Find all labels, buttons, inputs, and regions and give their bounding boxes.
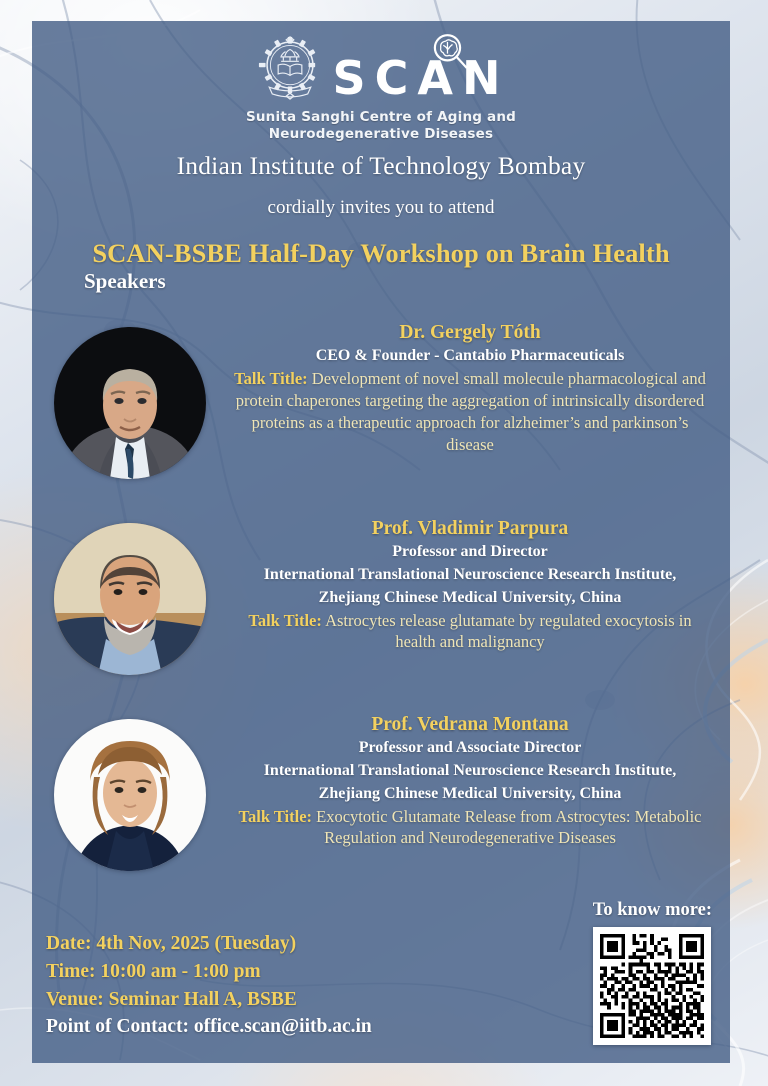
scan-logo-block: SCAN Sunita Sanghi Centre of Aging	[32, 29, 730, 143]
brain-magnifier-icon	[429, 31, 471, 73]
talk-title-text: Astrocytes release glutamate by regulate…	[325, 611, 692, 652]
speaker-role: Professor and Associate Director	[228, 737, 712, 760]
speaker-photo-vedrana-montana	[54, 719, 206, 871]
avatar	[54, 523, 206, 675]
content-panel: SCAN Sunita Sanghi Centre of Aging	[32, 21, 730, 1063]
speaker-name: Prof. Vladimir Parpura	[228, 517, 712, 541]
speaker-photo-cell	[32, 321, 228, 479]
speaker-row: Prof. Vedrana Montana Professor and Asso…	[32, 713, 730, 871]
speaker-info: Prof. Vedrana Montana Professor and Asso…	[228, 713, 730, 849]
speaker-name: Dr. Gergely Tóth	[228, 321, 712, 345]
talk-title-label: Talk Title:	[234, 369, 308, 388]
speaker-talk: Talk Title: Development of novel small m…	[228, 368, 712, 456]
qr-block: To know more:	[593, 900, 712, 1045]
speakers-section-label: Speakers	[84, 269, 166, 294]
qr-caption: To know more:	[593, 900, 712, 921]
speaker-name: Prof. Vedrana Montana	[228, 713, 712, 737]
event-time: Time: 10:00 am - 1:00 pm	[46, 958, 372, 986]
avatar	[54, 327, 206, 479]
speaker-photo-gergely-toth	[54, 327, 206, 479]
scan-wordmark: SCAN	[333, 31, 510, 115]
contact-email[interactable]: Point of Contact: office.scan@iitb.ac.in	[46, 1013, 372, 1041]
event-date: Date: 4th Nov, 2025 (Tuesday)	[46, 930, 372, 958]
speaker-role: CEO & Founder - Cantabio Pharmaceuticals	[228, 345, 712, 368]
talk-title-text: Exocytotic Glutamate Release from Astroc…	[316, 807, 701, 848]
page-title: SCAN-BSBE Half-Day Workshop on Brain Hea…	[32, 238, 730, 269]
speaker-photo-cell	[32, 713, 228, 871]
speaker-role: Professor and Director	[228, 541, 712, 564]
institute-name: Indian Institute of Technology Bombay	[32, 151, 730, 181]
speaker-affiliation-line: International Translational Neuroscience…	[228, 564, 712, 587]
talk-title-label: Talk Title:	[248, 611, 322, 630]
invitation-block: Indian Institute of Technology Bombay co…	[32, 151, 730, 269]
speaker-info: Prof. Vladimir Parpura Professor and Dir…	[228, 517, 730, 653]
speaker-talk: Talk Title: Astrocytes release glutamate…	[228, 610, 712, 654]
scan-subtitle-line2: Neurodegenerative Diseases	[32, 126, 730, 143]
qr-code-icon[interactable]	[593, 927, 711, 1045]
speaker-photo-vladimir-parpura	[54, 523, 206, 675]
speaker-photo-cell	[32, 517, 228, 675]
talk-title-label: Talk Title:	[239, 807, 313, 826]
invitation-line: cordially invites you to attend	[32, 197, 730, 219]
speaker-talk: Talk Title: Exocytotic Glutamate Release…	[228, 806, 712, 850]
iitb-gear-seal-icon	[253, 31, 327, 105]
workshop-poster: SCAN Sunita Sanghi Centre of Aging	[0, 0, 768, 1086]
event-details: Date: 4th Nov, 2025 (Tuesday) Time: 10:0…	[46, 930, 372, 1041]
event-venue: Venue: Seminar Hall A, BSBE	[46, 986, 372, 1014]
speaker-affiliation-line: International Translational Neuroscience…	[228, 760, 712, 783]
speaker-row: Dr. Gergely Tóth CEO & Founder - Cantabi…	[32, 321, 730, 479]
speaker-row: Prof. Vladimir Parpura Professor and Dir…	[32, 517, 730, 675]
avatar	[54, 719, 206, 871]
speaker-affiliation-line: Zhejiang Chinese Medical University, Chi…	[228, 783, 712, 806]
speaker-info: Dr. Gergely Tóth CEO & Founder - Cantabi…	[228, 321, 730, 456]
speaker-affiliation-line: Zhejiang Chinese Medical University, Chi…	[228, 587, 712, 610]
